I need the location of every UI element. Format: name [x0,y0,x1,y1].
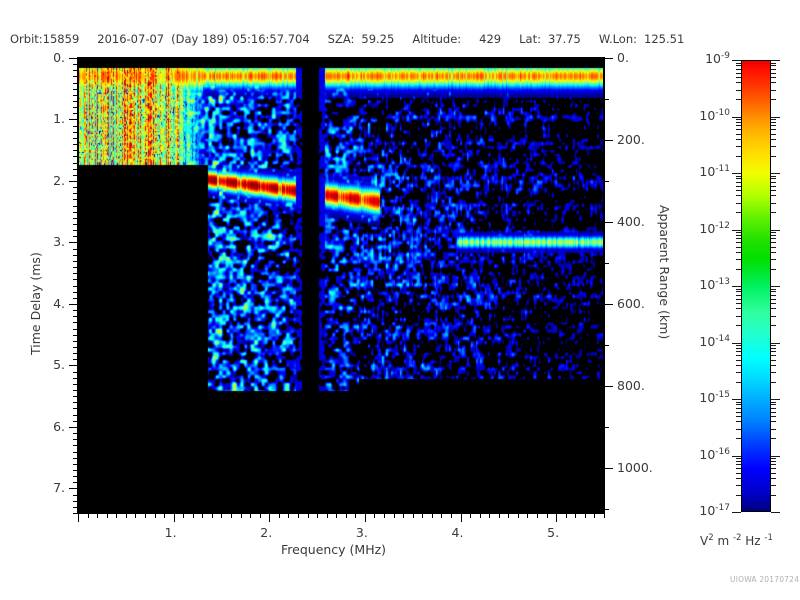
y-minor-tick [73,353,78,354]
x-minor-tick [527,513,528,518]
colorbar-tick-exponent: -10 [715,108,730,118]
x-major-tick [365,513,366,522]
y-tick-label-0: 0. [49,50,65,65]
y-minor-tick [73,255,78,256]
y-minor-tick [73,95,78,96]
colorbar-minor-tick [736,416,741,417]
colorbar-minor-tick [736,129,741,130]
plot-border-right [604,57,605,514]
colorbar-tick-mantissa: 10 [699,447,715,462]
colorbar-minor-tick [771,69,776,70]
colorbar-minor-tick [771,360,776,361]
x-major-tick-top [461,58,462,67]
colorbar-minor-tick [736,348,741,349]
colorbar-tick-label-0: 10-9 [682,51,730,66]
sza-value: 59.25 [361,32,394,46]
spectrogram-canvas [79,59,604,513]
y-minor-tick [73,464,78,465]
y-major-tick [69,181,78,182]
y-minor-tick [73,495,78,496]
x-minor-tick [317,513,318,518]
colorbar-minor-tick [771,242,776,243]
x-minor-tick-top [566,58,567,63]
y-minor-tick [73,335,78,336]
y-minor-tick [73,199,78,200]
y-minor-tick [73,421,78,422]
colorbar-minor-tick [771,429,776,430]
colorbar-tick-mantissa: 10 [699,108,715,123]
x-minor-tick [279,513,280,518]
colorbar-minor-tick [771,345,776,346]
colorbar-minor-tick [771,404,776,405]
x-minor-tick [489,513,490,518]
colorbar-minor-tick [736,73,741,74]
x-minor-tick [355,513,356,518]
x-minor-tick [298,513,299,518]
colorbar-minor-tick [771,458,776,459]
colorbar-minor-tick [736,82,741,83]
spectrogram-plot-area [78,58,604,513]
colorbar-minor-tick [771,90,776,91]
x-minor-tick [336,513,337,518]
plot-border-bottom [77,513,605,514]
x-minor-tick [88,513,89,518]
colorbar-minor-tick [736,299,741,300]
x-minor-tick-top [508,58,509,63]
colorbar-minor-tick [736,412,741,413]
y-minor-tick [73,193,78,194]
x-minor-tick [97,513,98,518]
y-minor-tick [73,206,78,207]
colorbar-minor-tick [771,412,776,413]
colorbar-tick-label-1: 10-10 [682,108,730,123]
orbit-value: 15859 [43,32,80,46]
y-minor-tick [73,476,78,477]
x-major-tick-top [556,58,557,67]
y2-tick-label-0: 0. [617,50,629,65]
x-minor-tick [537,513,538,518]
y2-major-tick [604,386,613,387]
x-major-tick [461,513,462,522]
colorbar-minor-tick [771,203,776,204]
colorbar-tick-label-2: 10-11 [682,164,730,179]
colorbar-minor-tick [736,372,741,373]
y-tick-label-6: 6. [49,419,65,434]
colorbar-minor-tick [771,119,776,120]
x-minor-tick-top [183,58,184,63]
x-minor-tick-top [336,58,337,63]
colorbar-minor-tick [736,63,741,64]
y-minor-tick [73,163,78,164]
x-minor-tick [107,513,108,518]
x-minor-tick-top [403,58,404,63]
ionogram-figure: Orbit:15859 2016-07-07 (Day 189) 05:16:5… [0,0,800,600]
x-minor-tick [135,513,136,518]
colorbar-major-tick [771,230,780,231]
colorbar-minor-tick [736,303,741,304]
colorbar-major-tick [732,286,741,287]
x-major-tick-top [269,58,270,67]
x-major-tick [174,513,175,522]
colorbar-minor-tick [771,156,776,157]
x-minor-tick [250,513,251,518]
x-minor-tick [547,513,548,518]
y-minor-tick [73,76,78,77]
x-minor-tick-top [298,58,299,63]
y-minor-tick [73,89,78,90]
colorbar-minor-tick [736,308,741,309]
watermark-credit: UIOWA 20170724 [730,575,799,584]
colorbar-minor-tick [736,316,741,317]
x-minor-tick-top [355,58,356,63]
y-minor-tick [73,279,78,280]
x-minor-tick [451,513,452,518]
orbit-field: Orbit:15859 [10,32,79,46]
colorbar-minor-tick [771,325,776,326]
x-minor-tick-top [202,58,203,63]
colorbar-tick-mantissa: 10 [699,164,715,179]
x-minor-tick-top [164,58,165,63]
colorbar-minor-tick [736,212,741,213]
colorbar-minor-tick [736,468,741,469]
colorbar-minor-tick [771,289,776,290]
y-minor-tick [73,415,78,416]
y-minor-tick [73,384,78,385]
colorbar-major-tick [771,456,780,457]
x-minor-tick [594,513,595,518]
colorbar-minor-tick [736,203,741,204]
colorbar-minor-tick [736,195,741,196]
colorbar-major-tick [732,173,741,174]
time-value: 05:16:57.704 [232,32,309,46]
colorbar-minor-tick [736,473,741,474]
y-minor-tick [73,439,78,440]
x-minor-tick-top [155,58,156,63]
colorbar-minor-tick [771,382,776,383]
altitude-label: Altitude: [412,32,461,46]
altitude-value: 429 [479,32,501,46]
colorbar-minor-tick [736,289,741,290]
colorbar-minor-tick [771,252,776,253]
colorbar-minor-tick [771,299,776,300]
y-tick-label-7: 7. [49,480,65,495]
y-minor-tick [73,286,78,287]
y2-minor-tick [604,181,609,182]
colorbar-tick-exponent: -12 [715,221,730,231]
y-minor-tick [73,230,78,231]
colorbar-minor-tick [771,122,776,123]
colorbar-minor-tick [771,351,776,352]
y-minor-tick [73,501,78,502]
colorbar-minor-tick [736,232,741,233]
x-minor-tick-top [260,58,261,63]
y-minor-tick [73,218,78,219]
colorbar-minor-tick [736,458,741,459]
x-minor-tick [183,513,184,518]
colorbar-minor-tick [736,325,741,326]
x-minor-tick [432,513,433,518]
x-minor-tick-top [327,58,328,63]
colorbar-minor-tick [736,461,741,462]
y-minor-tick [73,292,78,293]
colorbar-minor-tick [771,238,776,239]
y-major-tick [69,304,78,305]
y-minor-tick [73,267,78,268]
x-minor-tick-top [384,58,385,63]
colorbar-minor-tick [736,182,741,183]
x-minor-tick [394,513,395,518]
unit-hz-exp: -1 [764,533,772,543]
x-minor-tick-top [422,58,423,63]
colorbar-minor-tick [736,90,741,91]
colorbar-tick-label-8: 10-17 [682,503,730,518]
colorbar-minor-tick [771,82,776,83]
x-minor-tick-top [193,58,194,63]
x-minor-tick [231,513,232,518]
orbit-label: Orbit: [10,32,43,46]
colorbar-minor-tick [736,351,741,352]
y-minor-tick [73,156,78,157]
colorbar-minor-tick [771,355,776,356]
colorbar-major-tick [771,60,780,61]
y-minor-tick [73,445,78,446]
y2-major-tick [604,58,613,59]
colorbar-minor-tick [736,269,741,270]
x-minor-tick-top [518,58,519,63]
y-minor-tick [73,310,78,311]
y-major-tick [69,58,78,59]
x-minor-tick-top [221,58,222,63]
x-axis-title: Frequency (MHz) [281,542,386,557]
y2-minor-tick [604,263,609,264]
x-minor-tick [422,513,423,518]
colorbar-major-tick [732,60,741,61]
colorbar-tick-exponent: -15 [715,390,730,400]
x-minor-tick-top [288,58,289,63]
x-minor-tick [575,513,576,518]
y-major-tick [69,242,78,243]
y2-axis-title: Apparent Range (km) [657,205,672,339]
colorbar-minor-tick [736,247,741,248]
colorbar-major-tick [732,230,741,231]
colorbar-minor-tick [771,259,776,260]
header-metadata: Orbit:15859 2016-07-07 (Day 189) 05:16:5… [0,29,800,49]
colorbar-minor-tick [736,119,741,120]
x-minor-tick [241,513,242,518]
colorbar-minor-tick [736,156,741,157]
x-minor-tick-top [116,58,117,63]
x-minor-tick [508,513,509,518]
y-minor-tick [73,187,78,188]
y-minor-tick [73,341,78,342]
y-minor-tick [73,433,78,434]
y-minor-tick [73,150,78,151]
colorbar-minor-tick [771,269,776,270]
x-tick-label-3: 4. [452,525,464,540]
x-minor-tick [470,513,471,518]
colorbar-minor-tick [736,345,741,346]
x-minor-tick [327,513,328,518]
date-value: 2016-07-07 [97,32,164,46]
colorbar-minor-tick [736,190,741,191]
y-minor-tick [73,298,78,299]
y-minor-tick [73,224,78,225]
colorbar-minor-tick [771,303,776,304]
x-minor-tick-top [432,58,433,63]
colorbar-minor-tick [771,461,776,462]
colorbar-minor-tick [771,485,776,486]
x-minor-tick-top [537,58,538,63]
colorbar-minor-tick [771,408,776,409]
colorbar-minor-tick [736,176,741,177]
x-minor-tick [374,513,375,518]
x-minor-tick-top [527,58,528,63]
x-minor-tick-top [413,58,414,63]
colorbar-major-tick [771,343,780,344]
sza-label: SZA: [328,32,355,46]
x-minor-tick-top [489,58,490,63]
y-minor-tick [73,70,78,71]
y2-tick-label-1: 200. [617,132,645,147]
x-minor-tick-top [594,58,595,63]
unit-hz: Hz [741,534,764,548]
colorbar-minor-tick [736,178,741,179]
y-minor-tick [73,107,78,108]
colorbar-major-tick [732,343,741,344]
x-minor-tick-top [480,58,481,63]
colorbar-minor-tick [771,416,776,417]
y-minor-tick [73,101,78,102]
x-major-tick-top [365,58,366,67]
x-minor-tick [288,513,289,518]
colorbar-minor-tick [736,438,741,439]
colorbar-minor-tick [736,259,741,260]
colorbar-major-tick [771,512,780,513]
colorbar-minor-tick [771,176,776,177]
colorbar-minor-tick [771,473,776,474]
x-minor-tick-top [231,58,232,63]
colorbar-minor-tick [736,139,741,140]
colorbar-tick-mantissa: 10 [705,51,721,66]
y-tick-label-2: 2. [49,173,65,188]
colorbar-minor-tick [771,129,776,130]
y-minor-tick [73,452,78,453]
colorbar-tick-exponent: -17 [715,503,730,513]
colorbar-tick-exponent: -13 [715,277,730,287]
y-minor-tick [73,372,78,373]
plot-border-top [77,57,605,58]
x-minor-tick [164,513,165,518]
x-minor-tick [116,513,117,518]
colorbar-unit-label: V2 m -2 Hz -1 [700,533,773,548]
y-minor-tick [73,458,78,459]
y2-major-tick [604,468,613,469]
colorbar-minor-tick [771,178,776,179]
day-of-year-value: (Day 189) [171,32,228,46]
x-minor-tick-top [499,58,500,63]
x-tick-label-4: 5. [547,525,559,540]
x-minor-tick [126,513,127,518]
x-minor-tick-top [126,58,127,63]
y-minor-tick [73,359,78,360]
y-minor-tick [73,126,78,127]
colorbar-major-tick [771,173,780,174]
x-minor-tick [308,513,309,518]
x-minor-tick [413,513,414,518]
y-axis-title: Time Delay (ms) [28,252,43,355]
colorbar-minor-tick [771,295,776,296]
y-tick-label-5: 5. [49,357,65,372]
colorbar-tick-label-3: 10-12 [682,221,730,236]
y-major-tick [69,119,78,120]
colorbar-minor-tick [771,63,776,64]
x-minor-tick-top [88,58,89,63]
x-minor-tick-top [241,58,242,63]
y-minor-tick [73,482,78,483]
y-minor-tick [73,212,78,213]
lat-value: 37.75 [548,32,581,46]
y2-tick-label-2: 400. [617,214,645,229]
colorbar-tick-mantissa: 10 [699,390,715,405]
y-major-tick [69,427,78,428]
colorbar-tick-label-7: 10-16 [682,447,730,462]
y2-minor-tick [604,99,609,100]
x-tick-label-2: 3. [356,525,368,540]
colorbar-minor-tick [736,402,741,403]
colorbar-minor-tick [736,291,741,292]
colorbar-major-tick [732,456,741,457]
x-minor-tick [221,513,222,518]
x-major-tick-top [78,58,79,67]
x-minor-tick-top [346,58,347,63]
colorbar-minor-tick [736,360,741,361]
colorbar-minor-tick [771,99,776,100]
y-minor-tick [73,347,78,348]
colorbar-minor-tick [771,77,776,78]
x-minor-tick [403,513,404,518]
colorbar-minor-tick [771,308,776,309]
x-minor-tick-top [547,58,548,63]
y-minor-tick [73,113,78,114]
colorbar-major-tick [771,117,780,118]
wlon-value: 125.51 [644,32,684,46]
y-minor-tick [73,408,78,409]
colorbar-minor-tick [771,232,776,233]
colorbar-minor-tick [771,495,776,496]
x-minor-tick [193,513,194,518]
colorbar [741,60,771,512]
unit-m: m [714,534,733,548]
colorbar-tick-exponent: -9 [721,51,730,61]
colorbar-minor-tick [736,122,741,123]
wlon-label: W.Lon: [599,32,637,46]
colorbar-minor-tick [736,99,741,100]
y-minor-tick [73,169,78,170]
colorbar-major-tick [732,399,741,400]
colorbar-minor-tick [736,495,741,496]
y-minor-tick [73,273,78,274]
y-minor-tick [73,470,78,471]
x-minor-tick-top [212,58,213,63]
y-minor-tick [73,390,78,391]
colorbar-minor-tick [736,365,741,366]
colorbar-minor-tick [736,146,741,147]
y-minor-tick [73,322,78,323]
x-minor-tick-top [394,58,395,63]
colorbar-minor-tick [736,238,741,239]
x-minor-tick [566,513,567,518]
colorbar-minor-tick [736,242,741,243]
